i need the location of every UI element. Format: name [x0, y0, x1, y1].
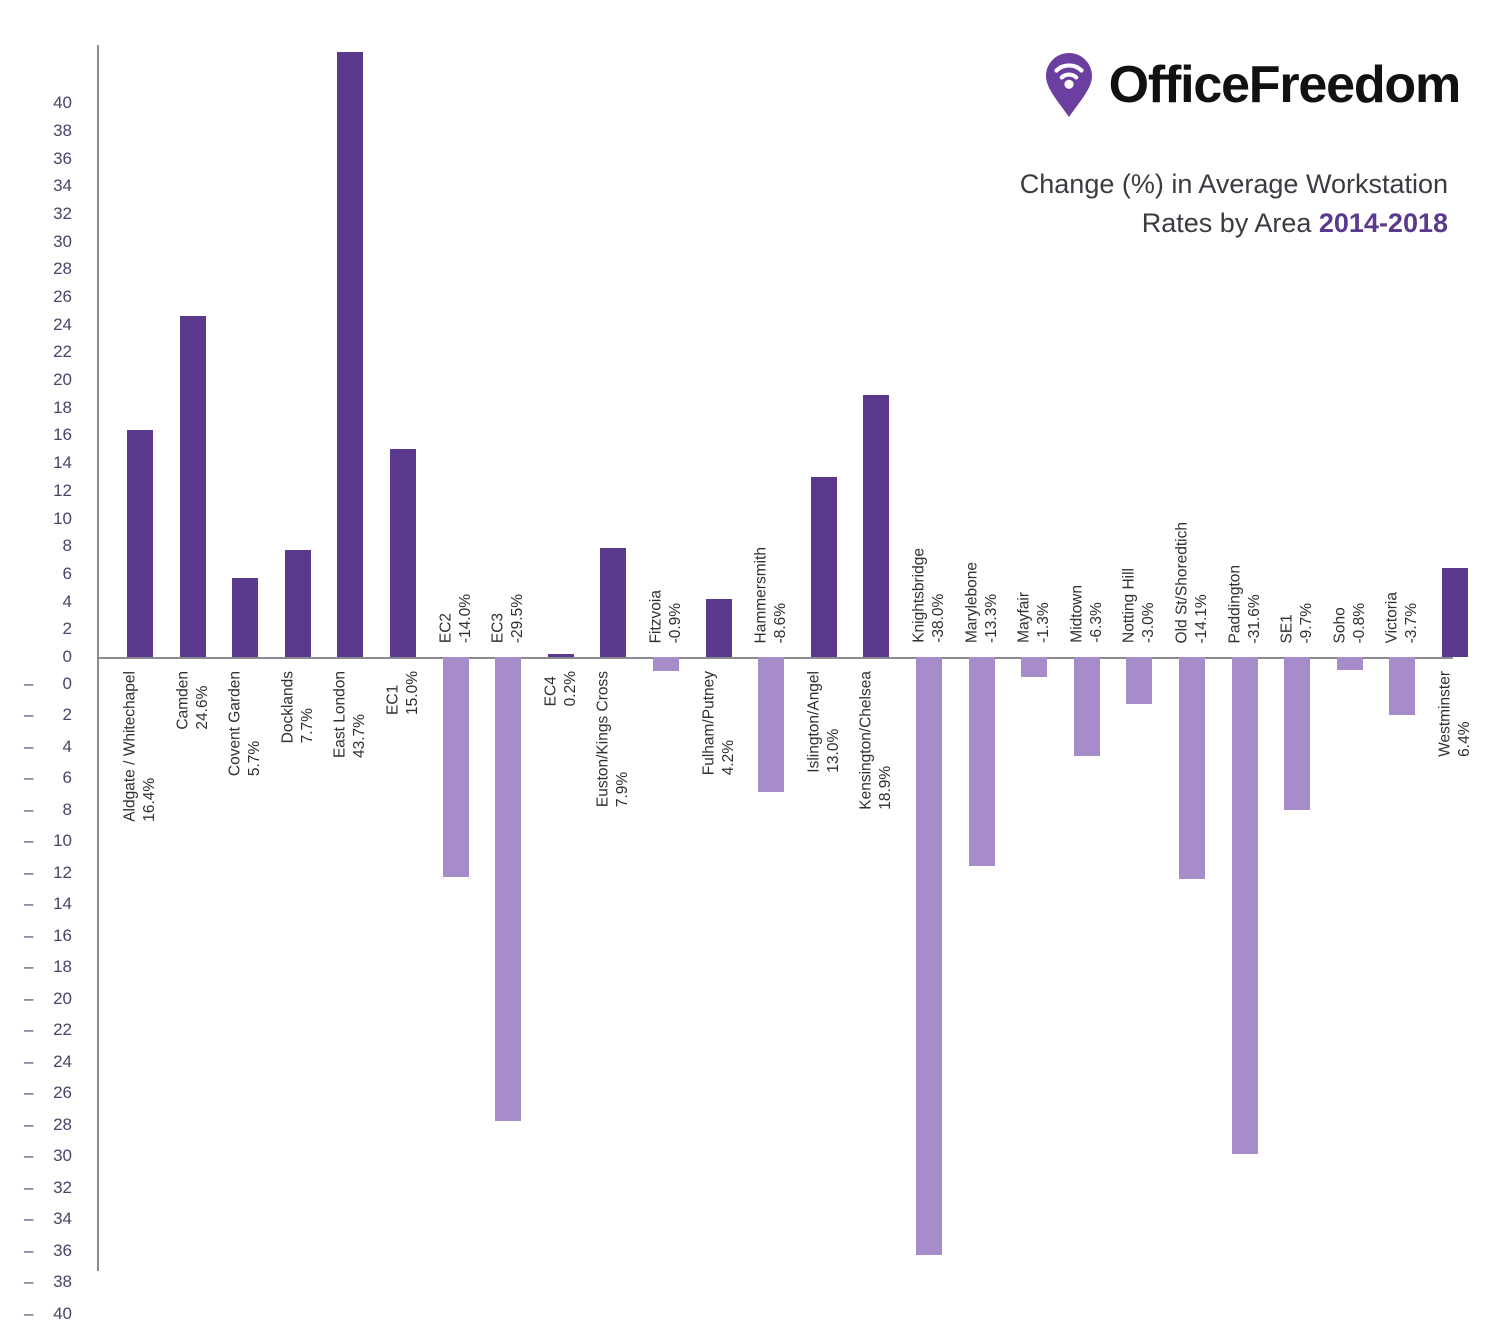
- y-tick-label: 20: [0, 371, 88, 389]
- y-tick-label-negative: –34: [0, 1210, 88, 1228]
- y-tick-label-negative: –26: [0, 1084, 88, 1102]
- y-tick-label-negative: –38: [0, 1273, 88, 1291]
- bar-group: Camden24.6%: [166, 45, 219, 1271]
- bar-category-name: Soho: [1330, 603, 1349, 644]
- bar-value-label: -3.7%: [1402, 592, 1421, 643]
- bar-group: East London43.7%: [324, 45, 377, 1271]
- bar-category-label: EC115.0%: [384, 671, 423, 715]
- bar[interactable]: [1074, 657, 1100, 756]
- y-tick-label: 24: [0, 316, 88, 334]
- y-tick-label-negative: –2: [0, 706, 88, 724]
- bar-value-label: 6.4%: [1455, 671, 1474, 757]
- bar-category-name: Knightsbridge: [910, 548, 929, 643]
- y-tick-label: 8: [0, 537, 88, 555]
- bar-category-name: Fulham/Putney: [699, 671, 718, 775]
- bar-group: Covent Garden5.7%: [219, 45, 272, 1271]
- bar-value-label: -29.5%: [508, 594, 527, 643]
- y-tick-label-negative: –40: [0, 1305, 88, 1323]
- bar-value-label: -0.9%: [666, 590, 685, 643]
- y-tick-label-negative: –8: [0, 801, 88, 819]
- bar-value-label: 15.0%: [403, 671, 422, 715]
- bar-category-label: Old St/Shoredtich-14.1%: [1173, 522, 1212, 643]
- chart-title-line1: Change (%) in Average Workstation: [928, 165, 1448, 204]
- bar[interactable]: [548, 654, 574, 657]
- map-pin-wifi-icon: [1045, 52, 1093, 118]
- bar-category-label: Soho-0.8%: [1330, 603, 1369, 644]
- bar-category-label: Notting Hill-3.0%: [1120, 568, 1159, 643]
- bar[interactable]: [1389, 657, 1415, 715]
- bar-category-name: Westminster: [1436, 671, 1455, 757]
- y-tick-label: 40: [0, 94, 88, 112]
- bar[interactable]: [337, 52, 363, 657]
- bar[interactable]: [1284, 657, 1310, 810]
- bar-group: EC3-29.5%: [482, 45, 535, 1271]
- bar-category-label: EC3-29.5%: [489, 594, 528, 643]
- bar-category-label: Midtown-6.3%: [1067, 585, 1106, 643]
- bar-value-label: -8.6%: [771, 547, 790, 643]
- bar-value-label: 5.7%: [245, 671, 264, 776]
- bar-value-label: -9.7%: [1297, 603, 1316, 644]
- bar-category-label: Westminster6.4%: [1436, 671, 1475, 757]
- bar[interactable]: [706, 599, 732, 657]
- y-tick-label: 2: [0, 620, 88, 638]
- y-tick-label-negative: –10: [0, 832, 88, 850]
- bar-category-name: Notting Hill: [1120, 568, 1139, 643]
- bar-group: Islington/Angel13.0%: [798, 45, 851, 1271]
- bar-value-label: 43.7%: [350, 671, 369, 758]
- bar-group: Aldgate / Whitechapel16.4%: [114, 45, 167, 1271]
- bar-category-label: EC2-14.0%: [436, 594, 475, 643]
- y-tick-label: 32: [0, 205, 88, 223]
- bar-category-name: Covent Garden: [226, 671, 245, 776]
- bar[interactable]: [1021, 657, 1047, 677]
- chart-title-line2: Rates by Area 2014-2018: [928, 204, 1448, 243]
- bar[interactable]: [758, 657, 784, 792]
- bar-category-name: EC4: [541, 671, 560, 706]
- bar[interactable]: [1126, 657, 1152, 704]
- y-tick-label-negative: –12: [0, 864, 88, 882]
- y-tick-label-negative: –18: [0, 958, 88, 976]
- y-tick-label-negative: –6: [0, 769, 88, 787]
- bar-value-label: 7.7%: [298, 671, 317, 743]
- bar-value-label: -3.0%: [1139, 568, 1158, 643]
- chart-title-line2-prefix: Rates by Area: [1142, 208, 1319, 238]
- bar-group: Euston/Kings Cross7.9%: [587, 45, 640, 1271]
- y-tick-label: 6: [0, 565, 88, 583]
- bar-value-label: 4.2%: [719, 671, 738, 775]
- bar-category-label: Docklands7.7%: [278, 671, 317, 743]
- bar-value-label: 24.6%: [193, 671, 212, 730]
- y-tick-label-negative: –4: [0, 738, 88, 756]
- bar-category-label: Marylebone-13.3%: [962, 562, 1001, 643]
- bar-value-label: 0.2%: [561, 671, 580, 706]
- bar[interactable]: [1232, 657, 1258, 1154]
- bar-category-label: Fitzvoia-0.9%: [647, 590, 686, 643]
- y-tick-label: 22: [0, 343, 88, 361]
- bar[interactable]: [653, 657, 679, 671]
- bar-category-label: Fulham/Putney4.2%: [699, 671, 738, 775]
- chart-title-year-range: 2014-2018: [1319, 208, 1448, 238]
- y-tick-label: 28: [0, 260, 88, 278]
- chart-title: Change (%) in Average Workstation Rates …: [928, 165, 1448, 243]
- bar-group: Fitzvoia-0.9%: [640, 45, 693, 1271]
- bar-value-label: -0.8%: [1350, 603, 1369, 644]
- y-tick-label: 4: [0, 593, 88, 611]
- bar-category-name: EC2: [436, 594, 455, 643]
- bar[interactable]: [232, 578, 258, 657]
- bar[interactable]: [811, 477, 837, 657]
- y-tick-label: 18: [0, 399, 88, 417]
- bar-group: EC40.2%: [535, 45, 588, 1271]
- y-tick-label: 30: [0, 233, 88, 251]
- bar-group: EC115.0%: [377, 45, 430, 1271]
- bar[interactable]: [390, 449, 416, 657]
- bar-value-label: -38.0%: [929, 548, 948, 643]
- bar-category-name: Islington/Angel: [804, 671, 823, 773]
- bar-group: Docklands7.7%: [272, 45, 325, 1271]
- bar-category-label: Islington/Angel13.0%: [804, 671, 843, 773]
- y-tick-label: 14: [0, 454, 88, 472]
- bar[interactable]: [916, 657, 942, 1255]
- y-tick-label-negative: –20: [0, 990, 88, 1008]
- bar-category-label: Covent Garden5.7%: [226, 671, 265, 776]
- y-tick-label-negative: –0: [0, 675, 88, 693]
- bar-category-label: Mayfair-1.3%: [1015, 592, 1054, 643]
- bar[interactable]: [600, 548, 626, 657]
- bar-category-label: Paddington-31.6%: [1225, 565, 1264, 643]
- y-tick-label-negative: –22: [0, 1021, 88, 1039]
- bar-category-name: Marylebone: [962, 562, 981, 643]
- y-tick-label-negative: –24: [0, 1053, 88, 1071]
- bar-category-name: Paddington: [1225, 565, 1244, 643]
- y-tick-label-negative: –14: [0, 895, 88, 913]
- bar[interactable]: [969, 657, 995, 866]
- bar-category-label: Camden24.6%: [173, 671, 212, 730]
- bar[interactable]: [1442, 568, 1468, 657]
- bar-category-name: EC1: [384, 671, 403, 715]
- bar[interactable]: [180, 316, 206, 657]
- bar-category-name: Aldgate / Whitechapel: [121, 671, 140, 822]
- bar[interactable]: [495, 657, 521, 1121]
- bar-category-name: Kensington/Chelsea: [857, 671, 876, 810]
- bar-value-label: -13.3%: [982, 562, 1001, 643]
- bar[interactable]: [863, 395, 889, 657]
- bar-category-name: Old St/Shoredtich: [1173, 522, 1192, 643]
- bar-category-label: EC40.2%: [541, 671, 580, 706]
- bar-value-label: -31.6%: [1245, 565, 1264, 643]
- bar-value-label: 18.9%: [876, 671, 895, 810]
- bar-value-label: 7.9%: [613, 671, 632, 807]
- y-tick-label: 16: [0, 426, 88, 444]
- bar-category-name: Euston/Kings Cross: [594, 671, 613, 807]
- bar-category-name: Midtown: [1067, 585, 1086, 643]
- bar-category-name: Victoria: [1383, 592, 1402, 643]
- brand-logo: OfficeFreedom: [1020, 52, 1460, 118]
- bar-category-label: SE1-9.7%: [1278, 603, 1317, 644]
- bar-value-label: -14.1%: [1192, 522, 1211, 643]
- bar[interactable]: [285, 550, 311, 657]
- y-tick-label-negative: –28: [0, 1116, 88, 1134]
- bar-category-label: Kensington/Chelsea18.9%: [857, 671, 896, 810]
- bar-value-label: 16.4%: [140, 671, 159, 822]
- bar-category-label: Hammersmith-8.6%: [752, 547, 791, 643]
- bar-value-label: 13.0%: [824, 671, 843, 773]
- bar-category-name: Docklands: [278, 671, 297, 743]
- y-tick-label-negative: –16: [0, 927, 88, 945]
- bar-category-name: Camden: [173, 671, 192, 730]
- bar-value-label: -6.3%: [1087, 585, 1106, 643]
- bar[interactable]: [1179, 657, 1205, 879]
- bar-value-label: -14.0%: [456, 594, 475, 643]
- y-tick-label: 10: [0, 510, 88, 528]
- bar[interactable]: [1337, 657, 1363, 670]
- bar-category-name: Hammersmith: [752, 547, 771, 643]
- bar[interactable]: [443, 657, 469, 877]
- bar[interactable]: [127, 430, 153, 657]
- bar-group: EC2-14.0%: [429, 45, 482, 1271]
- brand-name: OfficeFreedom: [1109, 59, 1460, 111]
- bar-category-name: SE1: [1278, 603, 1297, 644]
- bar-category-label: Knightsbridge-38.0%: [910, 548, 949, 643]
- y-tick-label-negative: –32: [0, 1179, 88, 1197]
- bar-category-label: Aldgate / Whitechapel16.4%: [121, 671, 160, 822]
- bar-category-name: Mayfair: [1015, 592, 1034, 643]
- bar-group: Hammersmith-8.6%: [745, 45, 798, 1271]
- bar-group: Kensington/Chelsea18.9%: [850, 45, 903, 1271]
- bar-category-name: EC3: [489, 594, 508, 643]
- bar-category-name: Fitzvoia: [647, 590, 666, 643]
- y-tick-label: 34: [0, 177, 88, 195]
- bar-category-label: East London43.7%: [331, 671, 370, 758]
- y-tick-label-negative: –36: [0, 1242, 88, 1260]
- bar-category-name: East London: [331, 671, 350, 758]
- y-tick-label: 12: [0, 482, 88, 500]
- y-tick-label: 26: [0, 288, 88, 306]
- bar-group: Fulham/Putney4.2%: [692, 45, 745, 1271]
- bar-value-label: -1.3%: [1034, 592, 1053, 643]
- bar-category-label: Euston/Kings Cross7.9%: [594, 671, 633, 807]
- y-tick-label: 38: [0, 122, 88, 140]
- y-tick-label: 0: [0, 648, 88, 666]
- bar-category-label: Victoria-3.7%: [1383, 592, 1422, 643]
- y-tick-label-negative: –30: [0, 1147, 88, 1165]
- y-tick-label: 36: [0, 150, 88, 168]
